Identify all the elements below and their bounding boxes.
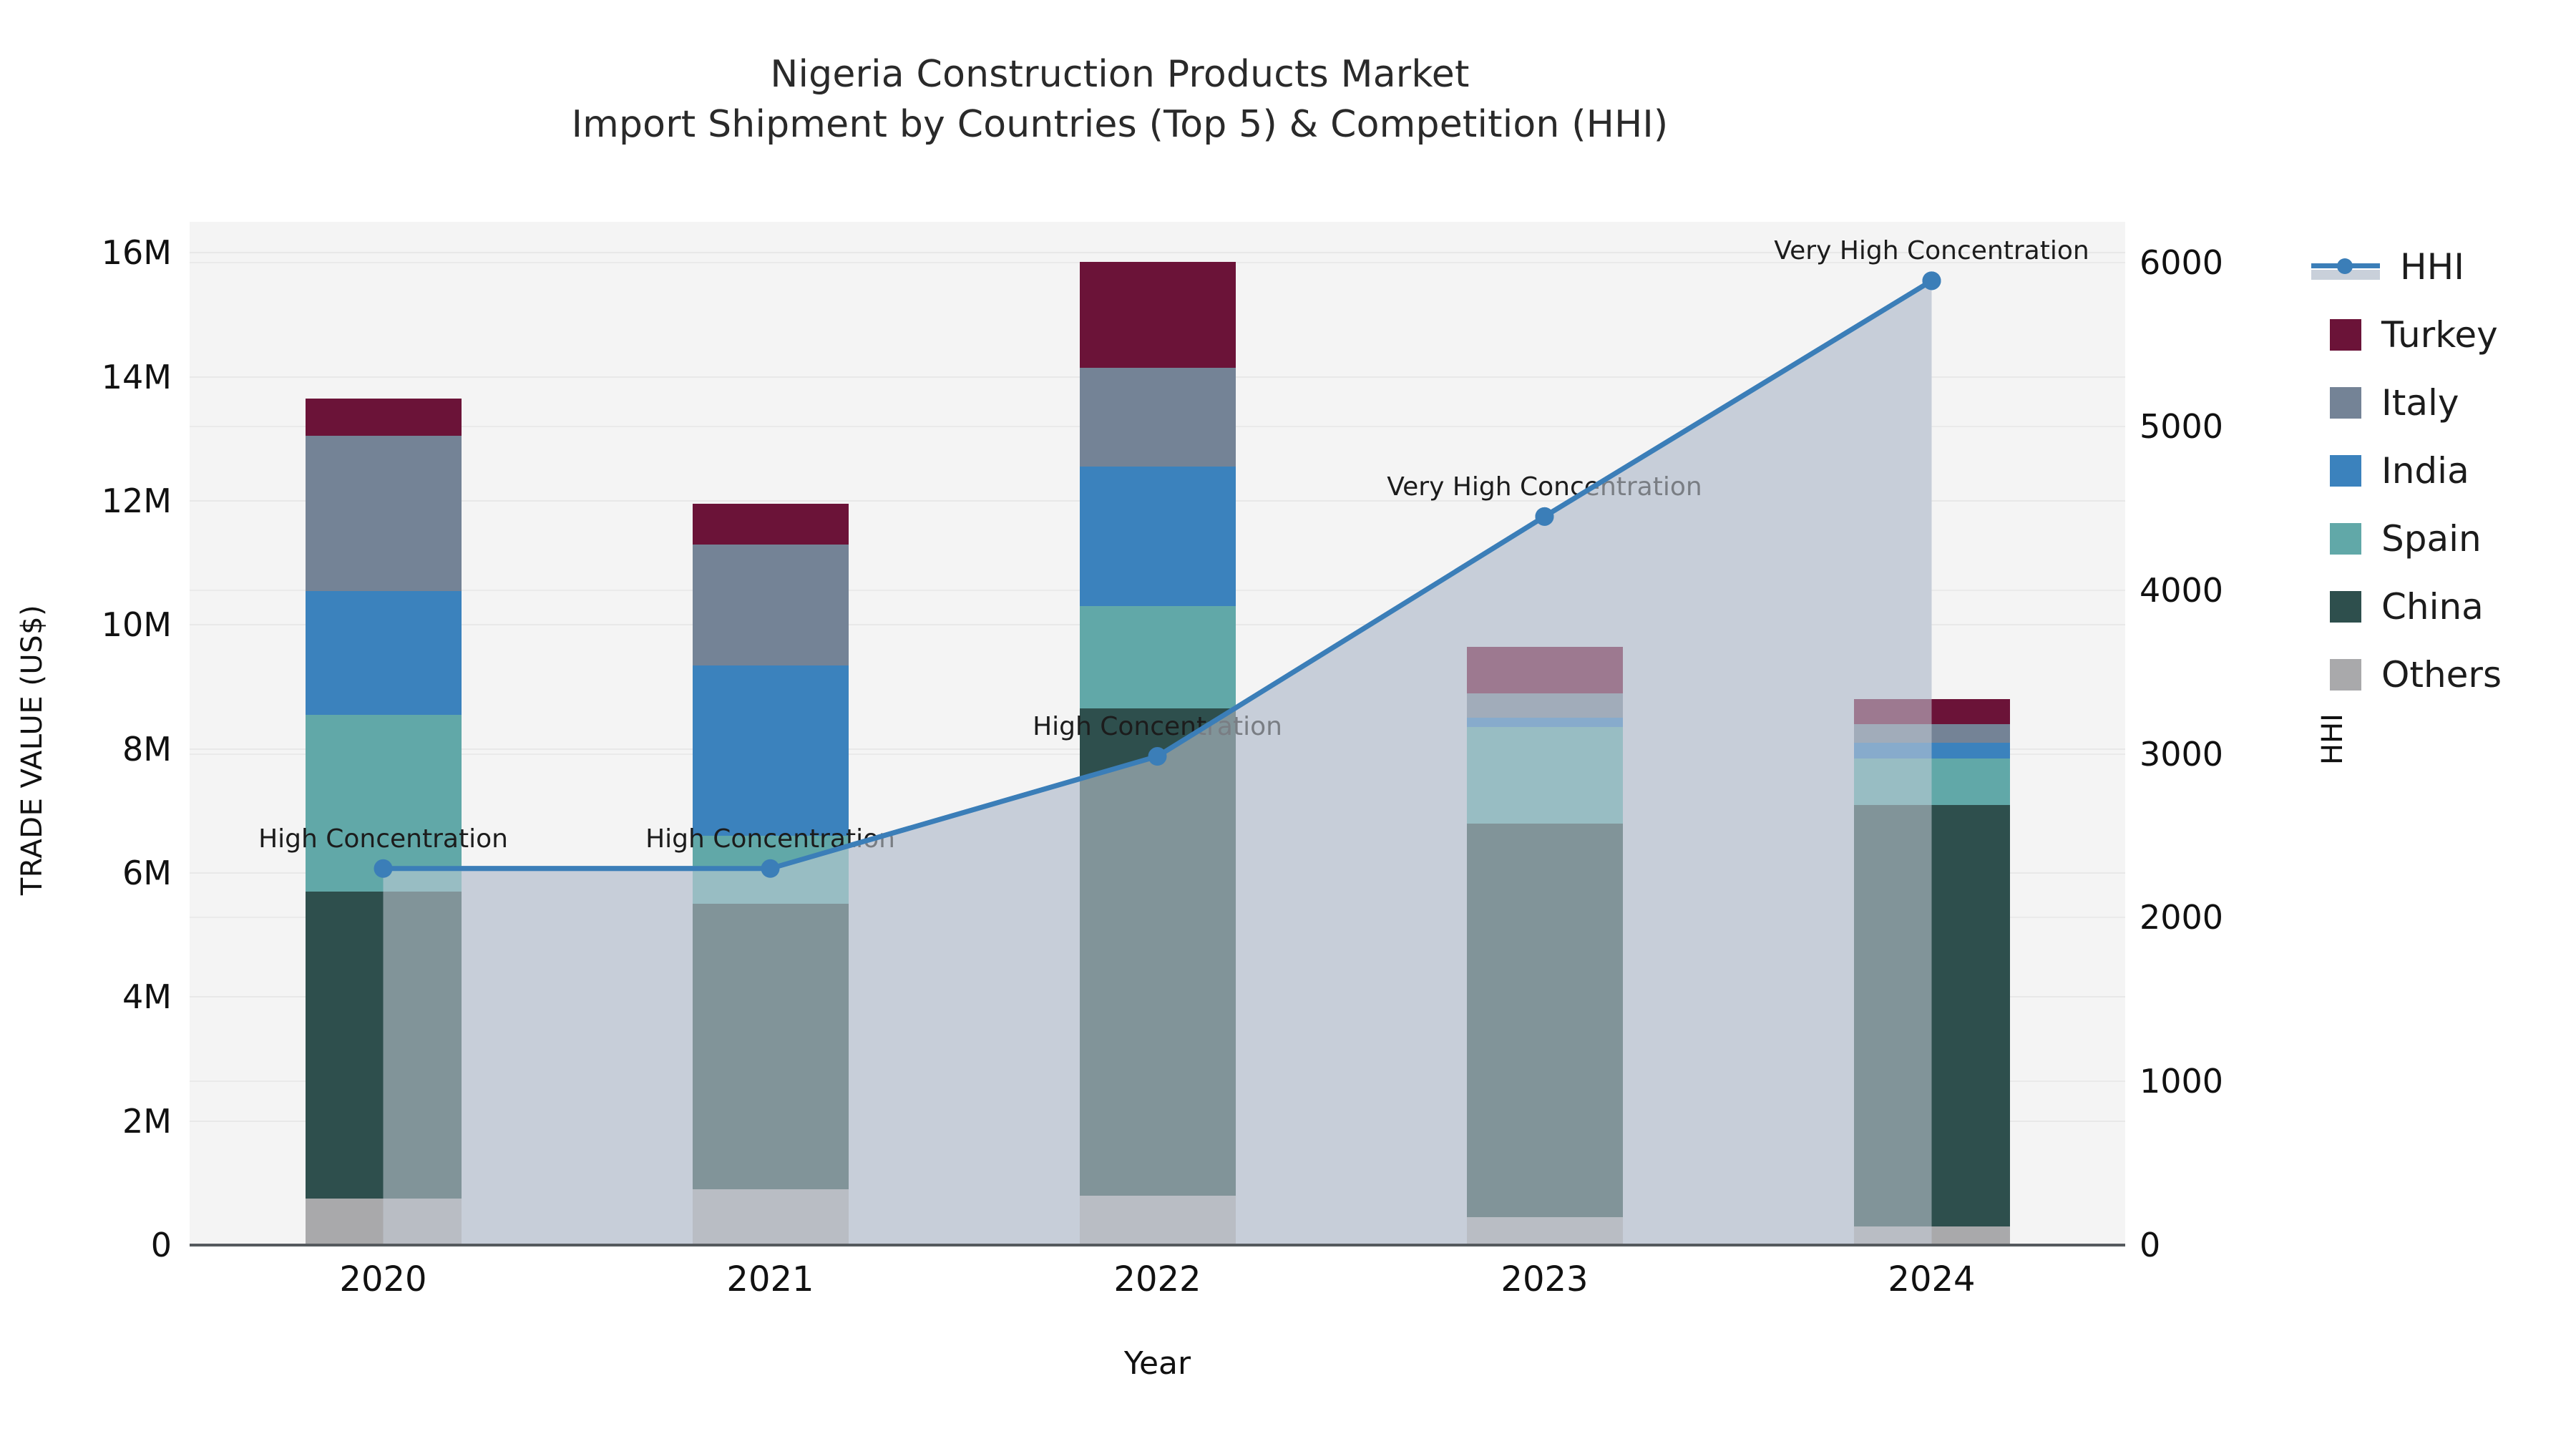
- bar-stack[interactable]: [1854, 699, 2010, 1245]
- y-tick-right: 1000: [2140, 1062, 2283, 1101]
- bar-stack[interactable]: [693, 504, 849, 1245]
- x-tick: 2024: [1888, 1259, 1975, 1299]
- x-tick: 2020: [339, 1259, 426, 1299]
- legend-color-swatch: [2330, 455, 2361, 487]
- legend-color-swatch: [2330, 387, 2361, 419]
- legend-label: Turkey: [2381, 314, 2498, 356]
- bar-segment-others[interactable]: [1854, 1226, 2010, 1245]
- bar-segment-others[interactable]: [1467, 1217, 1623, 1245]
- bar-stack[interactable]: [306, 399, 462, 1245]
- bar-segment-others[interactable]: [1080, 1196, 1236, 1245]
- bar-segment-china[interactable]: [1467, 824, 1623, 1217]
- bar-segment-others[interactable]: [693, 1189, 849, 1245]
- x-tick: 2021: [726, 1259, 814, 1299]
- bar-segment-china[interactable]: [1080, 708, 1236, 1195]
- legend-item-italy[interactable]: Italy: [2311, 369, 2569, 436]
- bar-stack[interactable]: [1080, 262, 1236, 1245]
- y-tick-right: 5000: [2140, 407, 2283, 446]
- chart-title: Nigeria Construction Products Market Imp…: [0, 50, 2240, 150]
- legend-label: Italy: [2381, 382, 2459, 424]
- bar-segment-italy[interactable]: [1080, 368, 1236, 467]
- legend-line-icon: [2311, 251, 2380, 283]
- y-tick-right: 0: [2140, 1226, 2283, 1264]
- title-line-2: Import Shipment by Countries (Top 5) & C…: [0, 100, 2240, 150]
- chart-figure: Nigeria Construction Products Market Imp…: [0, 0, 2576, 1449]
- hhi-annotation: Very High Concentration: [1774, 236, 2089, 265]
- bar-segment-china[interactable]: [306, 892, 462, 1199]
- legend-label: China: [2381, 586, 2484, 628]
- bar-segment-spain[interactable]: [1854, 758, 2010, 805]
- bar-segment-italy[interactable]: [693, 545, 849, 665]
- y-tick-right: 6000: [2140, 243, 2283, 282]
- bar-segment-spain[interactable]: [306, 715, 462, 892]
- hhi-annotation: High Concentration: [645, 824, 895, 854]
- plot-inner: High ConcentrationHigh ConcentrationHigh…: [190, 222, 2125, 1245]
- legend-item-india[interactable]: India: [2311, 436, 2569, 504]
- legend-color-swatch: [2330, 591, 2361, 623]
- x-axis-label: Year: [190, 1345, 2125, 1382]
- bar-segment-turkey[interactable]: [693, 504, 849, 544]
- x-tick: 2022: [1113, 1259, 1201, 1299]
- legend-item-spain[interactable]: Spain: [2311, 504, 2569, 572]
- x-tick: 2023: [1501, 1259, 1588, 1299]
- legend-label: HHI: [2400, 246, 2464, 288]
- bar-segment-turkey[interactable]: [1467, 647, 1623, 693]
- plot-area: High ConcentrationHigh ConcentrationHigh…: [190, 222, 2125, 1245]
- bar-stack[interactable]: [1467, 647, 1623, 1245]
- legend-label: Others: [2381, 654, 2502, 696]
- bar-segment-india[interactable]: [693, 665, 849, 836]
- legend-label: Spain: [2381, 518, 2482, 560]
- legend: HHITurkeyItalyIndiaSpainChinaOthers: [2311, 233, 2569, 708]
- bar-segment-italy[interactable]: [1854, 724, 2010, 743]
- hhi-annotation: High Concentration: [1033, 712, 1282, 741]
- x-axis-line: [190, 1244, 2125, 1246]
- bar-segment-turkey[interactable]: [1080, 262, 1236, 367]
- legend-item-others[interactable]: Others: [2311, 640, 2569, 708]
- bar-segment-spain[interactable]: [1080, 606, 1236, 708]
- bar-segment-italy[interactable]: [306, 436, 462, 591]
- hhi-annotation: High Concentration: [258, 824, 508, 854]
- y-tick-left: 16M: [0, 233, 172, 272]
- y-tick-left: 0: [0, 1226, 172, 1264]
- bar-segment-turkey[interactable]: [306, 399, 462, 436]
- bar-segment-india[interactable]: [1854, 743, 2010, 758]
- bar-segment-turkey[interactable]: [1854, 699, 2010, 724]
- y-tick-right: 3000: [2140, 735, 2283, 774]
- y-tick-left: 2M: [0, 1102, 172, 1141]
- legend-color-swatch: [2330, 523, 2361, 555]
- bar-segment-india[interactable]: [306, 591, 462, 715]
- legend-item-turkey[interactable]: Turkey: [2311, 301, 2569, 369]
- bar-segment-others[interactable]: [306, 1199, 462, 1245]
- legend-color-swatch: [2330, 659, 2361, 691]
- bar-segment-china[interactable]: [693, 904, 849, 1189]
- hhi-marker[interactable]: [1923, 271, 1941, 290]
- legend-label: India: [2381, 450, 2469, 492]
- legend-item-china[interactable]: China: [2311, 572, 2569, 640]
- bar-segment-india[interactable]: [1080, 467, 1236, 606]
- y-tick-left: 14M: [0, 358, 172, 396]
- bar-segment-china[interactable]: [1854, 805, 2010, 1226]
- hhi-marker[interactable]: [1536, 507, 1554, 526]
- bar-segment-spain[interactable]: [1467, 727, 1623, 823]
- y-axis-left-label: TRADE VALUE (US$): [16, 499, 49, 1000]
- y-tick-right: 4000: [2140, 571, 2283, 610]
- hhi-annotation: Very High Concentration: [1387, 472, 1702, 502]
- legend-item-hhi[interactable]: HHI: [2311, 233, 2569, 301]
- legend-marker-dot-icon: [2337, 258, 2353, 274]
- legend-color-swatch: [2330, 319, 2361, 351]
- bar-segment-italy[interactable]: [1467, 693, 1623, 718]
- title-line-1: Nigeria Construction Products Market: [0, 50, 2240, 100]
- bar-segment-india[interactable]: [1467, 718, 1623, 727]
- y-tick-right: 2000: [2140, 898, 2283, 937]
